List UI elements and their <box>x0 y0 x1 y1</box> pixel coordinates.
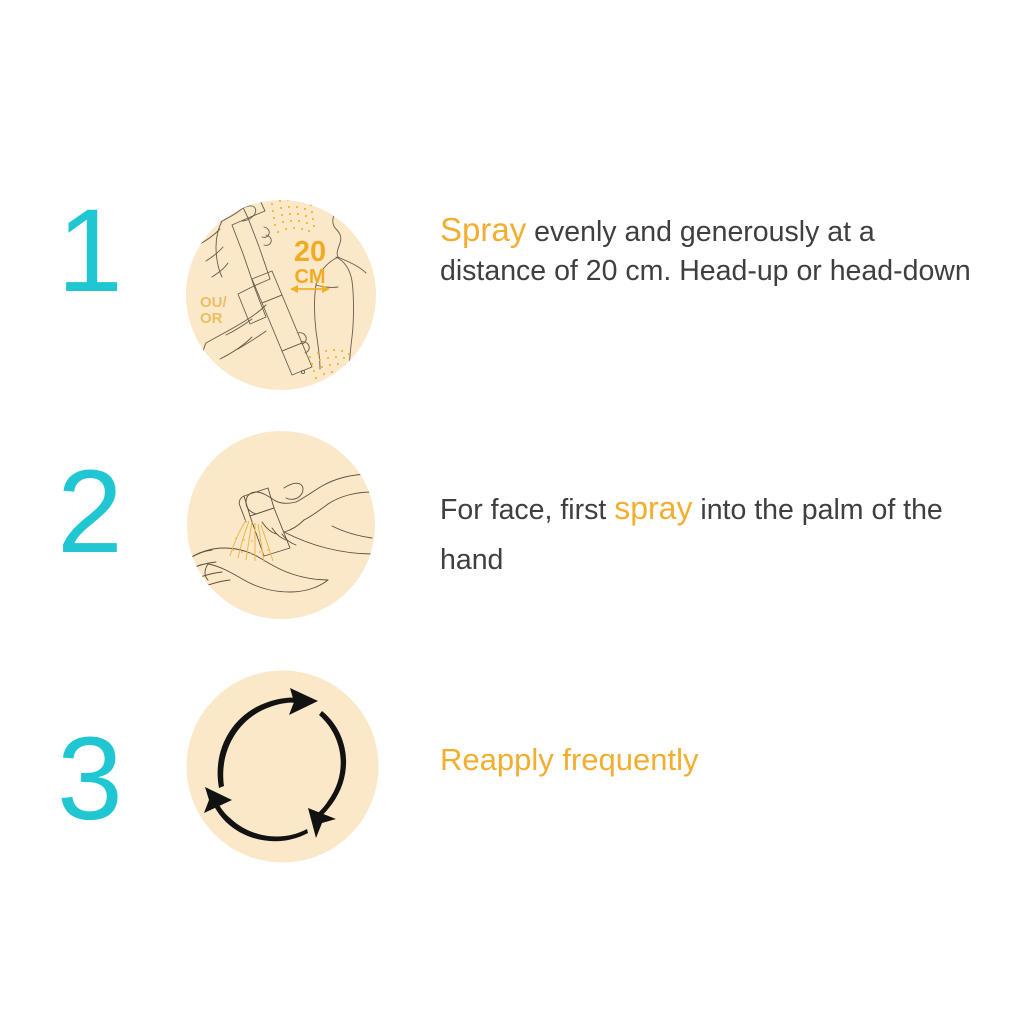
distance-value-label: 20 <box>294 236 326 268</box>
alternative-label-line2: OR <box>200 310 223 327</box>
step-2-text: For face, first spray into the palm of t… <box>440 483 980 585</box>
step-2-figure <box>186 430 376 620</box>
step-2-lead: For face, first <box>440 494 614 526</box>
step-1-text: Spray evenly and generously at a distanc… <box>440 210 980 291</box>
step-number-2: 2 <box>25 453 155 571</box>
instruction-step-3: 3 Reapply frequently <box>0 665 1024 865</box>
step-2-highlight: spray <box>614 490 692 526</box>
step-3-figure <box>186 670 379 863</box>
step-number-1: 1 <box>25 192 155 310</box>
step-1-figure: 20 CM OU/ OR <box>186 185 376 391</box>
alternative-label-line1: OU/ <box>200 294 228 311</box>
instruction-step-1: 1 <box>0 170 1024 400</box>
distance-unit-label: CM <box>294 266 325 288</box>
step-3-text: Reapply frequently <box>440 740 980 780</box>
step-1-highlight: Spray <box>440 211 526 248</box>
step-number-3: 3 <box>25 720 155 838</box>
instructions-infographic: 1 <box>0 0 1024 1024</box>
step-3-highlight: Reapply frequently <box>440 742 699 777</box>
instruction-step-2: 2 <box>0 425 1024 625</box>
